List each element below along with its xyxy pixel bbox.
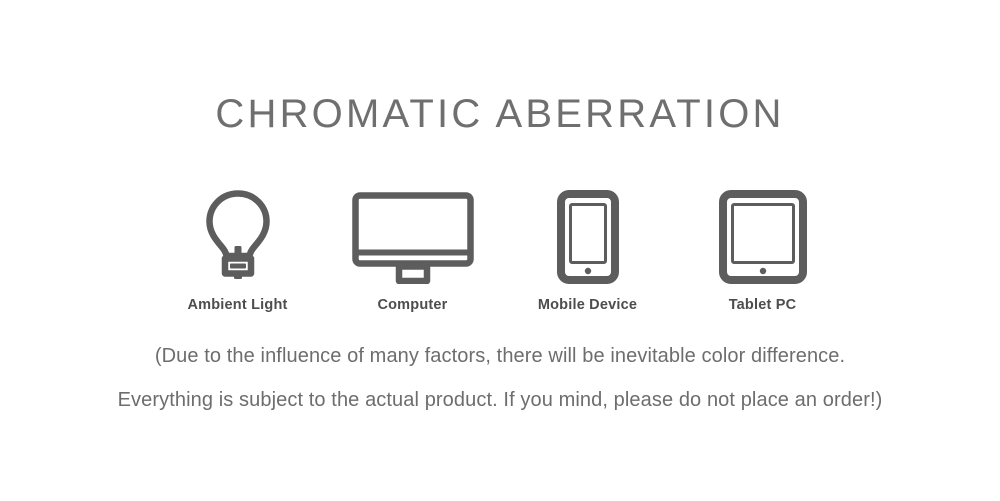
disclaimer-line-1: (Due to the influence of many factors, t… xyxy=(0,345,1000,368)
device-label-ambient-light: Ambient Light xyxy=(187,297,287,313)
disclaimer-line-2: Everything is subject to the actual prod… xyxy=(0,389,1000,412)
mobile-phone-icon xyxy=(557,186,619,284)
device-label-mobile: Mobile Device xyxy=(538,297,637,313)
tablet-icon xyxy=(719,186,807,284)
device-item-mobile: Mobile Device xyxy=(500,186,675,313)
device-item-computer: Computer xyxy=(325,186,500,313)
device-item-ambient-light: Ambient Light xyxy=(150,186,325,313)
lightbulb-icon xyxy=(201,186,275,284)
chromatic-aberration-banner: CHROMATIC ABERRATION Ambient Light xyxy=(0,0,1000,501)
device-label-tablet: Tablet PC xyxy=(729,297,797,313)
device-item-tablet: Tablet PC xyxy=(675,186,850,313)
device-label-computer: Computer xyxy=(377,297,447,313)
device-icon-row: Ambient Light Computer Mob xyxy=(150,186,850,318)
page-title: CHROMATIC ABERRATION xyxy=(0,90,1000,138)
desktop-monitor-icon xyxy=(352,186,474,284)
